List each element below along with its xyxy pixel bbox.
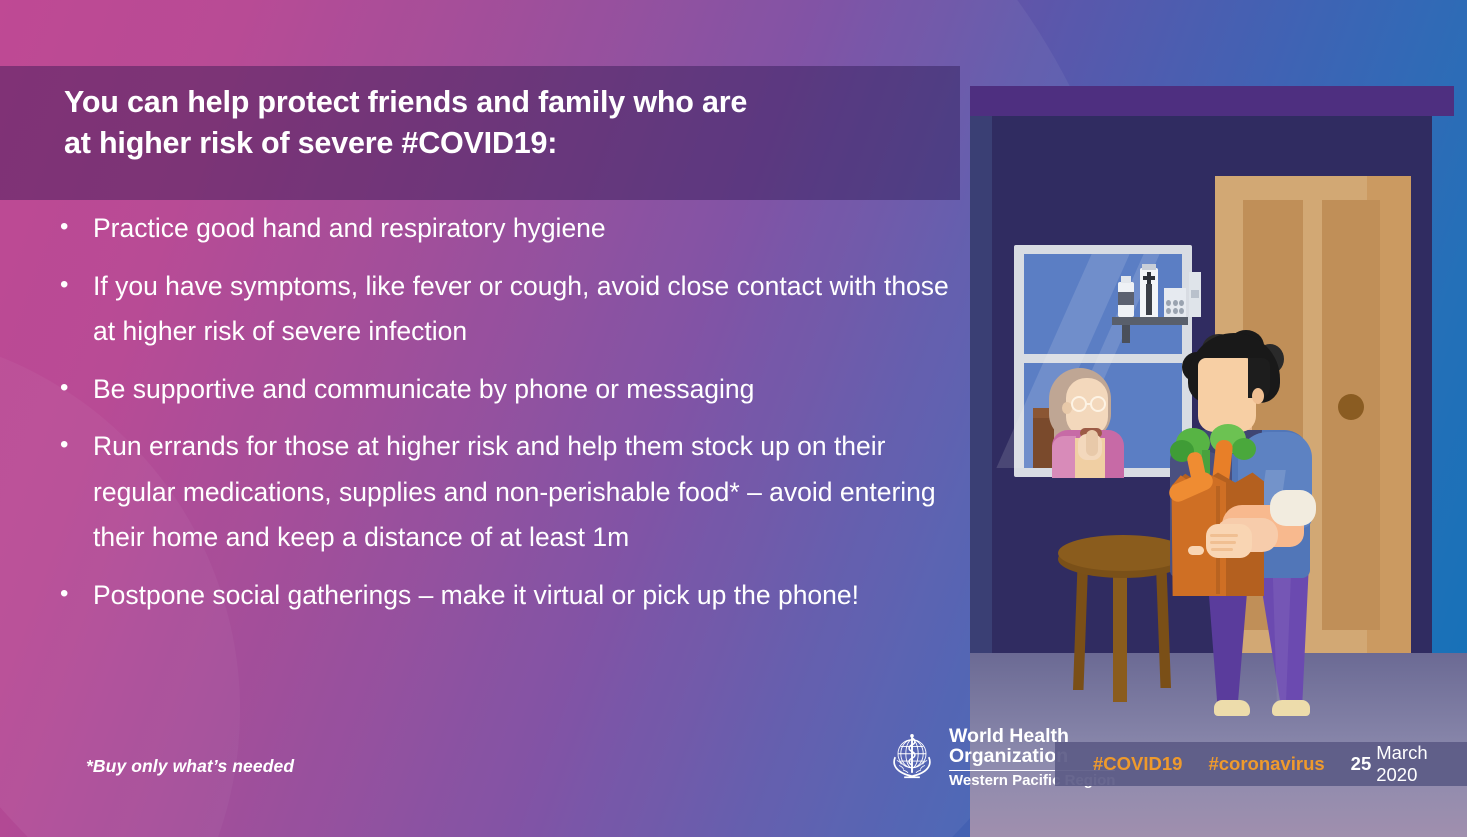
man-finger-1	[1210, 534, 1238, 537]
man-shoe-right	[1272, 700, 1310, 716]
footnote: *Buy only what’s needed	[86, 756, 294, 777]
man-finger-3	[1211, 548, 1233, 551]
page-title: You can help protect friends and family …	[64, 82, 944, 165]
woman-hand-upper	[1086, 430, 1098, 456]
medicine-bottle-label	[1118, 292, 1134, 305]
window-pane-top	[1024, 254, 1182, 354]
stool-top	[1058, 535, 1188, 571]
hashtag-date-bar: #COVID19 #coronavirus 25 March 2020	[1055, 742, 1467, 786]
bullet-marker: •	[60, 264, 93, 305]
woman-glasses-bridge	[1086, 403, 1091, 405]
man-shoe-left	[1214, 700, 1250, 716]
who-emblem-icon	[884, 728, 940, 784]
advice-list: • Practice good hand and respiratory hyg…	[60, 206, 975, 631]
man-thumb	[1188, 546, 1204, 555]
list-item-text: Run errands for those at higher risk and…	[93, 424, 975, 561]
woman-cardigan-highlight	[1052, 436, 1076, 478]
illustration-scene	[970, 0, 1467, 837]
bullet-marker: •	[60, 206, 93, 247]
medical-cross-icon-v	[1147, 272, 1151, 284]
title-line-1: You can help protect friends and family …	[64, 82, 944, 123]
hashtag-coronavirus[interactable]: #coronavirus	[1208, 753, 1324, 775]
broccoli-2b	[1232, 438, 1256, 460]
medicine-tube-cap	[1142, 264, 1156, 270]
list-item-text: Be supportive and communicate by phone o…	[93, 367, 975, 413]
list-item: • Run errands for those at higher risk a…	[60, 424, 975, 561]
woman-glasses-right-lens	[1090, 396, 1106, 412]
stool-leg-middle	[1113, 570, 1127, 702]
list-item-text: Postpone social gatherings – make it vir…	[93, 573, 975, 619]
bullet-marker: •	[60, 573, 93, 614]
who-covid-infographic: You can help protect friends and family …	[0, 0, 1467, 837]
woman-glasses-left-lens	[1071, 396, 1087, 412]
man-finger-2	[1210, 541, 1236, 544]
pill-dots	[1166, 300, 1184, 314]
title-line-2: at higher risk of severe #COVID19:	[64, 123, 944, 164]
list-item: • Postpone social gatherings – make it v…	[60, 573, 975, 619]
date-day: 25	[1351, 753, 1372, 775]
medicine-tube-body	[1146, 284, 1152, 315]
awning	[970, 86, 1454, 116]
medicine-box-label	[1191, 290, 1199, 298]
bullet-marker: •	[60, 424, 93, 465]
list-item: • If you have symptoms, like fever or co…	[60, 264, 975, 355]
hashtag-covid19[interactable]: #COVID19	[1093, 753, 1182, 775]
medicine-shelf	[1112, 317, 1188, 325]
man-rolled-cuff	[1270, 490, 1316, 526]
bullet-marker: •	[60, 367, 93, 408]
medicine-bottle-cap	[1121, 276, 1131, 283]
list-item: • Be supportive and communicate by phone…	[60, 367, 975, 413]
man-ear	[1252, 388, 1264, 404]
date-month-year: March 2020	[1376, 742, 1467, 786]
list-item-text: If you have symptoms, like fever or coug…	[93, 264, 975, 355]
doorknob-icon	[1338, 394, 1364, 420]
list-item-text: Practice good hand and respiratory hygie…	[93, 206, 975, 252]
list-item: • Practice good hand and respiratory hyg…	[60, 206, 975, 252]
shelf-bracket	[1122, 325, 1130, 343]
